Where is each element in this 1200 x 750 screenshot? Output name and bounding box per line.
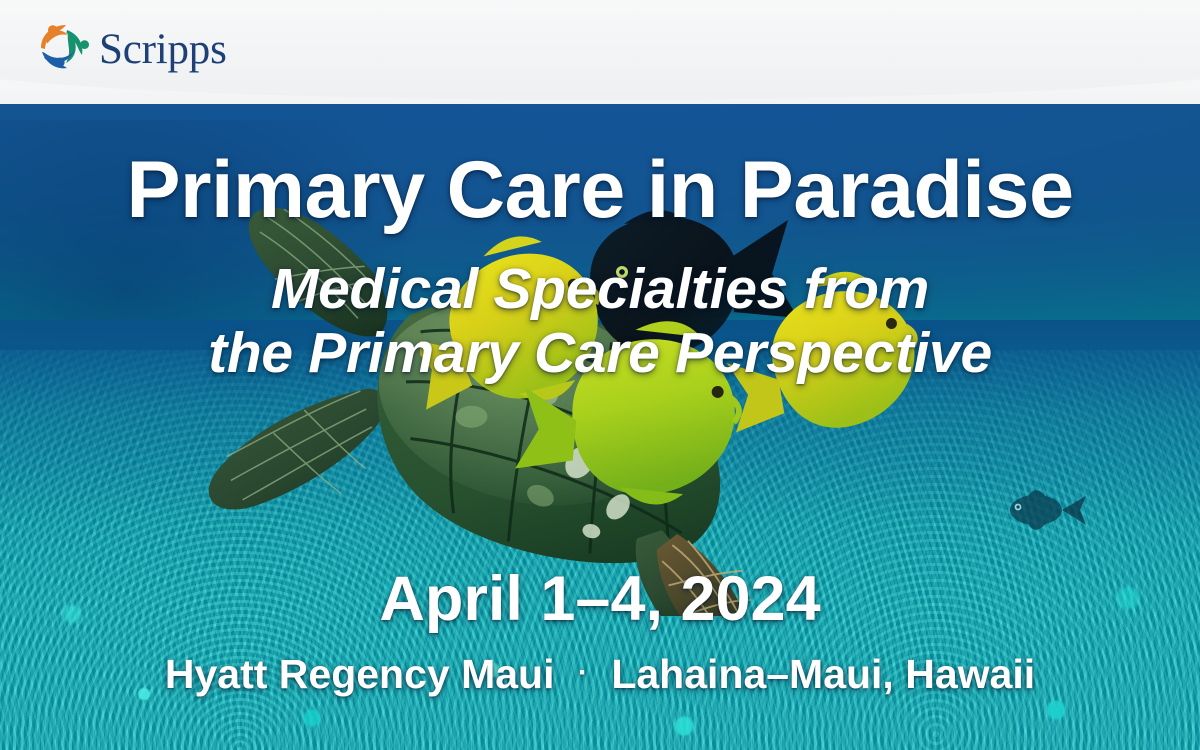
venue-separator: · (566, 658, 600, 688)
scripps-logo[interactable]: Scripps (34, 18, 227, 78)
banner-date: April 1–4, 2024 (0, 568, 1200, 631)
banner-text-layer: Primary Care in Paradise Medical Special… (0, 0, 1200, 750)
scripps-wordmark: Scripps (99, 28, 227, 71)
subtitle-line-2: the Primary Care Perspective (0, 322, 1200, 386)
venue-location: Lahaina–Maui, Hawaii (611, 651, 1035, 697)
conference-banner: Scripps Primary Care in Paradise Medical… (0, 0, 1200, 750)
banner-subtitle: Medical Specialties from the Primary Car… (0, 258, 1200, 386)
banner-title: Primary Care in Paradise (0, 150, 1200, 231)
venue-name: Hyatt Regency Maui (165, 651, 555, 697)
banner-venue-line: Hyatt Regency Maui · Lahaina–Maui, Hawai… (0, 654, 1200, 695)
subtitle-line-1: Medical Specialties from (0, 258, 1200, 322)
scripps-triad-logo-icon (34, 22, 90, 74)
